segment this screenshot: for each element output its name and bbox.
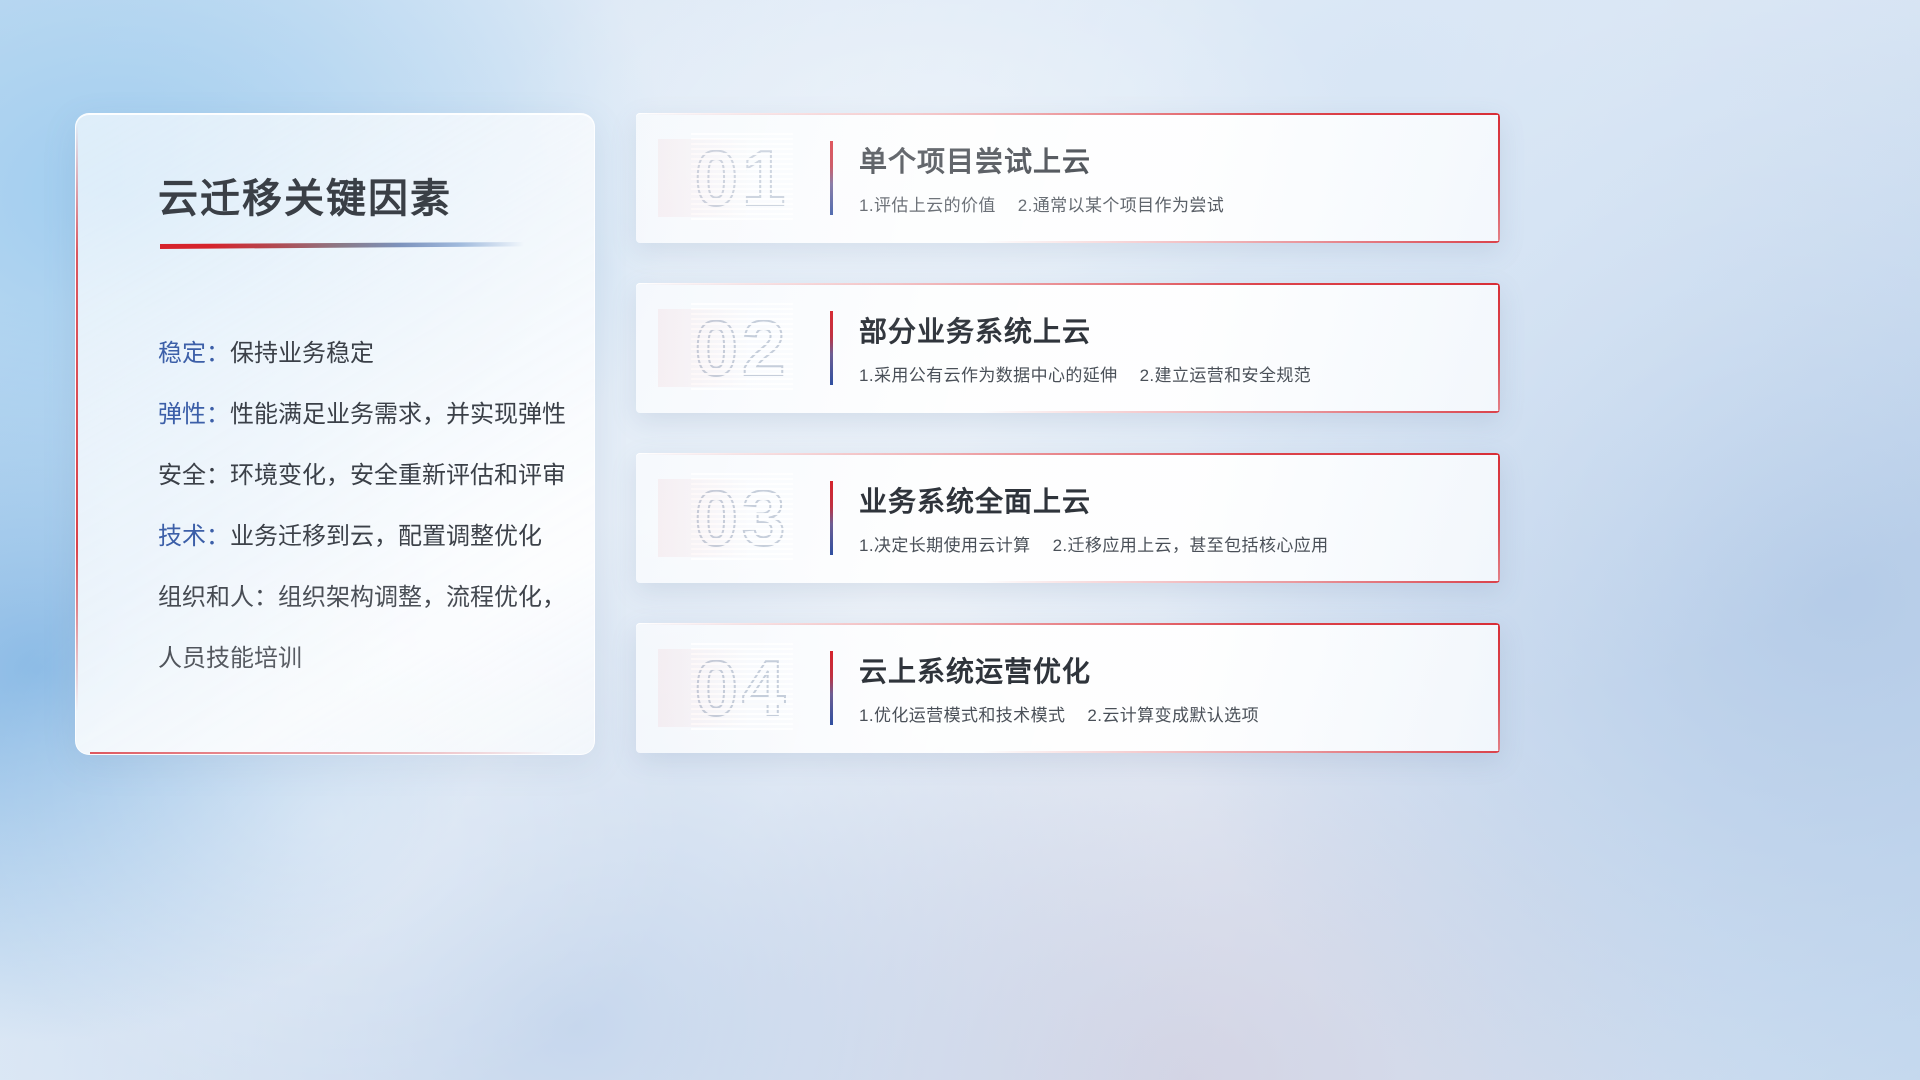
- card-top-accent: [640, 283, 1500, 285]
- card-right-accent: [1498, 453, 1500, 583]
- card-subtitle: 1.决定长期使用云计算2.迁移应用上云，甚至包括核心应用: [859, 531, 1474, 556]
- stage-number: 02: [695, 309, 790, 387]
- card-subtitle: 1.评估上云的价值2.通常以某个项目作为尝试: [859, 191, 1474, 216]
- card-subtitle: 1.优化运营模式和技术模式2.云计算变成默认选项: [859, 701, 1474, 726]
- factor-item-technology: 技术：业务迁移到云，配置调整优化: [158, 506, 578, 567]
- factor-text: 保持业务稳定: [230, 340, 374, 367]
- title-underline-rule: [160, 242, 524, 249]
- stage-card-01[interactable]: 01 单个项目尝试上云 1.评估上云的价值2.通常以某个项目作为尝试: [636, 113, 1500, 243]
- card-point-2: 2.云计算变成默认选项: [1087, 706, 1259, 725]
- card-text-block: 单个项目尝试上云 1.评估上云的价值2.通常以某个项目作为尝试: [859, 140, 1500, 216]
- card-top-accent: [640, 113, 1500, 115]
- card-divider-bar: [830, 141, 833, 215]
- stage-card-04[interactable]: 04 云上系统运营优化 1.优化运营模式和技术模式2.云计算变成默认选项: [636, 623, 1500, 753]
- stage-card-03[interactable]: 03 业务系统全面上云 1.决定长期使用云计算2.迁移应用上云，甚至包括核心应用: [636, 453, 1500, 583]
- factor-key: 弹性：: [158, 401, 230, 428]
- stage-number: 03: [695, 479, 790, 557]
- panel-title: 云迁移关键因素: [158, 166, 594, 224]
- card-right-accent: [1498, 113, 1500, 243]
- factor-text: 性能满足业务需求，并实现弹性: [230, 401, 566, 428]
- factor-key: 组织和人：: [158, 584, 278, 611]
- card-divider-bar: [830, 311, 833, 385]
- stage-number: 04: [695, 649, 790, 727]
- factor-text: 环境变化，安全重新评估和评审: [230, 462, 566, 489]
- card-text-block: 业务系统全面上云 1.决定长期使用云计算2.迁移应用上云，甚至包括核心应用: [859, 480, 1500, 556]
- card-point-1: 1.决定长期使用云计算: [859, 536, 1031, 555]
- card-point-1: 1.采用公有云作为数据中心的延伸: [859, 366, 1118, 385]
- factor-text: 业务迁移到云，配置调整优化: [230, 523, 542, 550]
- factor-item-security: 安全：环境变化，安全重新评估和评审: [158, 445, 578, 506]
- factor-list: 稳定：保持业务稳定 弹性：性能满足业务需求，并实现弹性 安全：环境变化，安全重新…: [158, 323, 578, 689]
- card-bottom-accent: [982, 751, 1500, 753]
- card-bottom-accent: [982, 241, 1500, 243]
- key-factors-panel: 云迁移关键因素 稳定：保持业务稳定 弹性：性能满足业务需求，并实现弹性 安全：环…: [75, 113, 595, 755]
- factor-key: 技术：: [158, 523, 230, 550]
- card-divider-bar: [830, 481, 833, 555]
- factor-key: 安全：: [158, 462, 230, 489]
- stage-number-badge: 02: [658, 309, 826, 387]
- card-bottom-accent: [982, 411, 1500, 413]
- factor-key: 稳定：: [158, 340, 230, 367]
- card-text-block: 部分业务系统上云 1.采用公有云作为数据中心的延伸2.建立运营和安全规范: [859, 310, 1500, 386]
- stage-number: 01: [695, 139, 790, 217]
- stage-number-badge: 03: [658, 479, 826, 557]
- stage-number-badge: 01: [658, 139, 826, 217]
- card-point-2: 2.建立运营和安全规范: [1140, 366, 1312, 385]
- card-right-accent: [1498, 623, 1500, 753]
- card-text-block: 云上系统运营优化 1.优化运营模式和技术模式2.云计算变成默认选项: [859, 650, 1500, 726]
- stage-number-badge: 04: [658, 649, 826, 727]
- card-title: 部分业务系统上云: [859, 310, 1474, 350]
- factor-item-stability: 稳定：保持业务稳定: [158, 323, 578, 384]
- card-top-accent: [640, 453, 1500, 455]
- stage-card-02[interactable]: 02 部分业务系统上云 1.采用公有云作为数据中心的延伸2.建立运营和安全规范: [636, 283, 1500, 413]
- card-point-1: 1.优化运营模式和技术模式: [859, 706, 1065, 725]
- card-divider-bar: [830, 651, 833, 725]
- stage-card-list: 01 单个项目尝试上云 1.评估上云的价值2.通常以某个项目作为尝试 02 部分…: [636, 113, 1500, 753]
- panel-bottom-accent-bar: [90, 752, 554, 754]
- card-subtitle: 1.采用公有云作为数据中心的延伸2.建立运营和安全规范: [859, 361, 1474, 386]
- slide-canvas: 云迁移关键因素 稳定：保持业务稳定 弹性：性能满足业务需求，并实现弹性 安全：环…: [0, 0, 1920, 1080]
- card-bottom-accent: [982, 581, 1500, 583]
- card-title: 云上系统运营优化: [859, 650, 1474, 690]
- card-title: 业务系统全面上云: [859, 480, 1474, 520]
- factor-item-elasticity: 弹性：性能满足业务需求，并实现弹性: [158, 384, 578, 445]
- card-right-accent: [1498, 283, 1500, 413]
- card-point-2: 2.迁移应用上云，甚至包括核心应用: [1053, 536, 1329, 555]
- factor-item-organization-people: 组织和人：组织架构调整，流程优化，人员技能培训: [158, 567, 578, 689]
- panel-left-accent-bar: [76, 124, 78, 712]
- card-point-1: 1.评估上云的价值: [859, 196, 996, 215]
- card-point-2: 2.通常以某个项目作为尝试: [1018, 196, 1224, 215]
- card-top-accent: [640, 623, 1500, 625]
- card-title: 单个项目尝试上云: [859, 140, 1474, 180]
